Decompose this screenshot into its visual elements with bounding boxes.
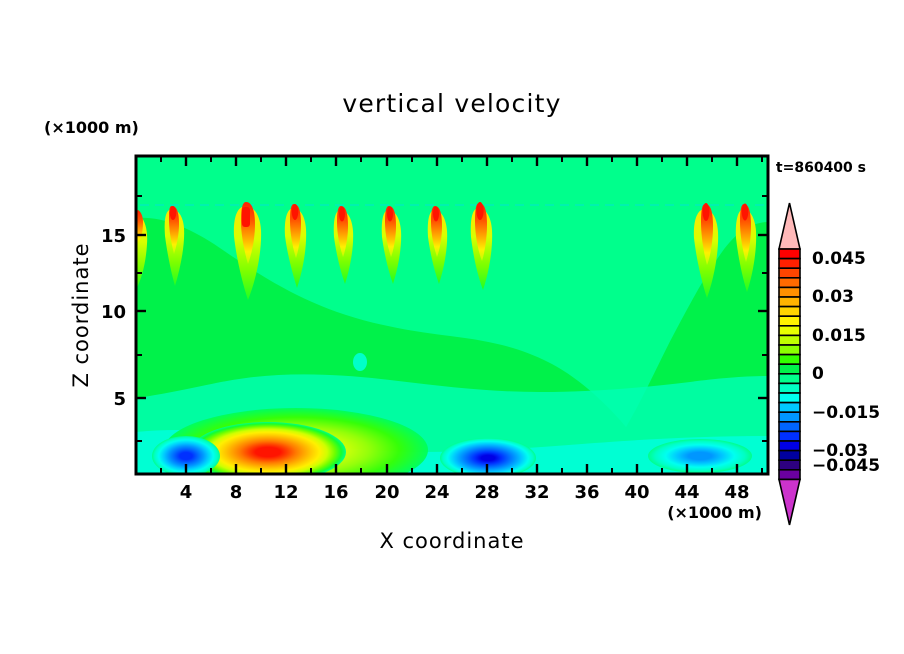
x-tick-label-5: 24 bbox=[424, 482, 449, 503]
x-tick-label-3: 16 bbox=[323, 482, 348, 503]
plot-area bbox=[136, 156, 768, 492]
colorbar-label-minus45: −0.045 bbox=[812, 456, 880, 476]
x-tick-label-2: 12 bbox=[273, 482, 298, 503]
x-axis-title: X coordinate bbox=[379, 529, 524, 553]
x-tick-label-9: 40 bbox=[624, 482, 649, 503]
colorbar-label-0: 0.045 bbox=[812, 249, 866, 269]
x-tick-label-7: 32 bbox=[524, 482, 549, 503]
vertical-velocity-figure: vertical velocity (×1000 m) bbox=[0, 0, 904, 654]
y-axis-unit-label: (×1000 m) bbox=[44, 118, 139, 137]
chart-title: vertical velocity bbox=[342, 89, 561, 118]
isolated-anomaly-blob bbox=[353, 353, 367, 371]
colorbar-label-1: 0.03 bbox=[812, 287, 854, 307]
colorbar-label-2: 0.015 bbox=[812, 326, 866, 346]
colorbar-bands bbox=[779, 249, 800, 479]
time-annotation: t=860400 s bbox=[776, 160, 866, 176]
x-tick-label-1: 8 bbox=[230, 482, 243, 503]
x-tick-label-11: 48 bbox=[724, 482, 749, 503]
x-tick-label-8: 36 bbox=[574, 482, 599, 503]
colorbar-label-4: −0.015 bbox=[812, 403, 880, 423]
y-axis-title: Z coordinate bbox=[69, 242, 93, 387]
x-axis-unit-label: (×1000 m) bbox=[667, 503, 762, 522]
x-tick-label-10: 44 bbox=[674, 482, 699, 503]
y-tick-label-15: 15 bbox=[101, 226, 126, 247]
y-tick-label-5: 5 bbox=[113, 389, 126, 410]
y-tick-label-10: 10 bbox=[101, 302, 126, 323]
colorbar-label-3: 0 bbox=[812, 364, 824, 384]
x-tick-label-0: 4 bbox=[180, 482, 193, 503]
x-tick-label-4: 20 bbox=[374, 482, 399, 503]
x-tick-label-6: 28 bbox=[474, 482, 499, 503]
